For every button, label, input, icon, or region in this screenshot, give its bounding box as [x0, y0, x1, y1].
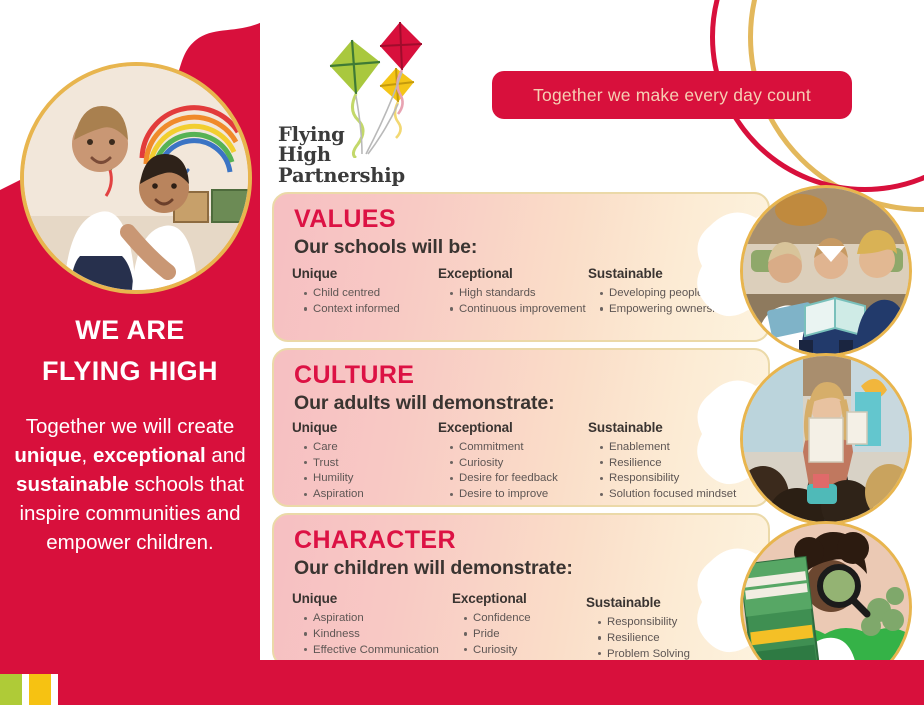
list-item: Resilience [598, 631, 754, 646]
column-heading: Sustainable [588, 420, 756, 435]
photo-culture [740, 353, 912, 525]
sidebar-body-part-2: , [82, 444, 93, 467]
panel-culture-title: CULTURE [294, 361, 414, 390]
bottom-red-bar [0, 660, 924, 674]
list-item: Confidence [464, 611, 584, 626]
list-item: Care [304, 440, 436, 455]
list-item: Curiosity [464, 643, 584, 658]
column-list: CareTrustHumilityAspiration [290, 440, 436, 502]
list-item: Pride [464, 627, 584, 642]
panel-values-subtitle: Our schools will be: [294, 236, 477, 259]
list-item: Aspiration [304, 611, 450, 626]
photo-culture-art [743, 356, 909, 522]
column-heading: Exceptional [438, 420, 586, 435]
column-unique: UniqueChild centredContext informed [290, 266, 436, 318]
tagline-banner: Together we make every day count [492, 71, 852, 119]
list-item: Developing people [600, 286, 756, 301]
list-item: Responsibility [600, 471, 756, 486]
list-item: Aspiration [304, 487, 436, 502]
list-item: Curiosity [450, 456, 586, 471]
list-item: Desire for feedback [450, 471, 586, 486]
list-item: Enablement [600, 440, 756, 455]
column-sustainable: SustainableResponsibilityResilienceProbl… [584, 591, 754, 662]
list-item: Continuous improvement [450, 302, 586, 317]
column-heading: Exceptional [452, 591, 584, 606]
column-exceptional: ExceptionalCommitmentCuriosityDesire for… [436, 420, 586, 503]
column-heading: Exceptional [438, 266, 586, 281]
column-list: AspirationKindnessEffective Communicatio… [290, 611, 450, 657]
sidebar-body-text: Together we will create unique, exceptio… [14, 412, 246, 558]
panel-values: VALUES Our schools will be: UniqueChild … [272, 192, 770, 342]
panel-character: CHARACTER Our children will demonstrate:… [272, 513, 770, 667]
sidebar-body-part-5: sustainable [16, 473, 129, 496]
list-item: Empowering ownership [600, 302, 756, 317]
list-item: High standards [450, 286, 586, 301]
sidebar-title-line2: FLYING HIGH [0, 351, 260, 392]
panel-character-title: CHARACTER [294, 526, 456, 555]
sidebar-photo [20, 62, 252, 294]
sidebar-photo-art [24, 66, 248, 290]
panel-culture-subtitle: Our adults will demonstrate: [294, 392, 555, 415]
logo-wordmark: Flying High Partnership [278, 125, 405, 186]
list-item: Effective Communication [304, 643, 450, 658]
column-heading: Unique [292, 420, 436, 435]
list-item: Child centred [304, 286, 436, 301]
panel-character-columns: UniqueAspirationKindnessEffective Commun… [290, 591, 760, 662]
panel-values-columns: UniqueChild centredContext informedExcep… [290, 266, 760, 318]
panel-values-title: VALUES [294, 205, 396, 234]
photo-values [740, 185, 912, 357]
list-item: Kindness [304, 627, 450, 642]
column-list: Child centredContext informed [290, 286, 436, 317]
column-list: ConfidencePrideCuriosity [450, 611, 584, 657]
list-item: Resilience [600, 456, 756, 471]
accent-block-red [58, 674, 924, 705]
column-list: CommitmentCuriosityDesire for feedbackDe… [436, 440, 586, 502]
sidebar-body-part-4: and [206, 444, 246, 467]
list-item: Solution focused mindset [600, 487, 756, 502]
column-unique: UniqueCareTrustHumilityAspiration [290, 420, 436, 503]
sidebar-body-part-1: unique [14, 444, 81, 467]
photo-values-art [743, 188, 909, 354]
column-sustainable: SustainableDeveloping peopleEmpowering o… [586, 266, 756, 318]
list-item: Context informed [304, 302, 436, 317]
accent-block-green [0, 674, 22, 705]
sidebar-title-line1: WE ARE [0, 310, 260, 351]
column-exceptional: ExceptionalHigh standardsContinuous impr… [436, 266, 586, 318]
poster-canvas: WE ARE FLYING HIGH Together we will crea… [0, 0, 924, 705]
column-sustainable: SustainableEnablementResilienceResponsib… [586, 420, 756, 503]
column-list: High standardsContinuous improvement [436, 286, 586, 317]
panel-culture: CULTURE Our adults will demonstrate: Uni… [272, 348, 770, 507]
column-list: EnablementResilienceResponsibilitySoluti… [586, 440, 756, 502]
sidebar-body-part-3: exceptional [93, 444, 206, 467]
brand-logo: Flying High Partnership [278, 18, 428, 186]
logo-line-2: High [278, 145, 405, 165]
list-item: Responsibility [598, 615, 754, 630]
list-item: Trust [304, 456, 436, 471]
logo-line-3: Partnership [278, 166, 405, 186]
column-list: ResponsibilityResilienceProblem Solving [584, 615, 754, 661]
list-item: Desire to improve [450, 487, 586, 502]
panel-character-subtitle: Our children will demonstrate: [294, 557, 573, 580]
sidebar-body-part-0: Together we will create [26, 415, 235, 438]
column-exceptional: ExceptionalConfidencePrideCuriosity [450, 591, 584, 662]
panel-culture-columns: UniqueCareTrustHumilityAspirationExcepti… [290, 420, 760, 503]
column-heading: Unique [292, 591, 450, 606]
list-item: Humility [304, 471, 436, 486]
logo-line-1: Flying [278, 125, 405, 145]
sidebar-title: WE ARE FLYING HIGH [0, 310, 260, 392]
tagline-text: Together we make every day count [533, 85, 811, 106]
bottom-color-strip [0, 674, 924, 705]
column-list: Developing peopleEmpowering ownership [586, 286, 756, 317]
column-heading: Sustainable [586, 595, 754, 610]
accent-block-yellow [29, 674, 51, 705]
column-heading: Unique [292, 266, 436, 281]
column-heading: Sustainable [588, 266, 756, 281]
column-unique: UniqueAspirationKindnessEffective Commun… [290, 591, 450, 662]
list-item: Commitment [450, 440, 586, 455]
